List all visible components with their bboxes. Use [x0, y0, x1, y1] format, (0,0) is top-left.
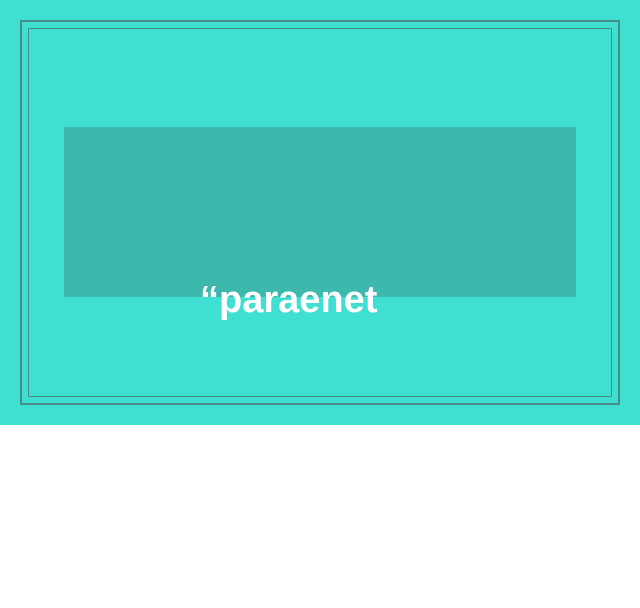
page-title-line-2: ic”的英英意思: [200, 440, 590, 496]
page-title: “paraenet ic”的英英意思: [200, 160, 590, 608]
page-title-line-1: “paraenet: [200, 272, 590, 328]
page-canvas: “paraenet ic”的英英意思: [0, 0, 640, 425]
